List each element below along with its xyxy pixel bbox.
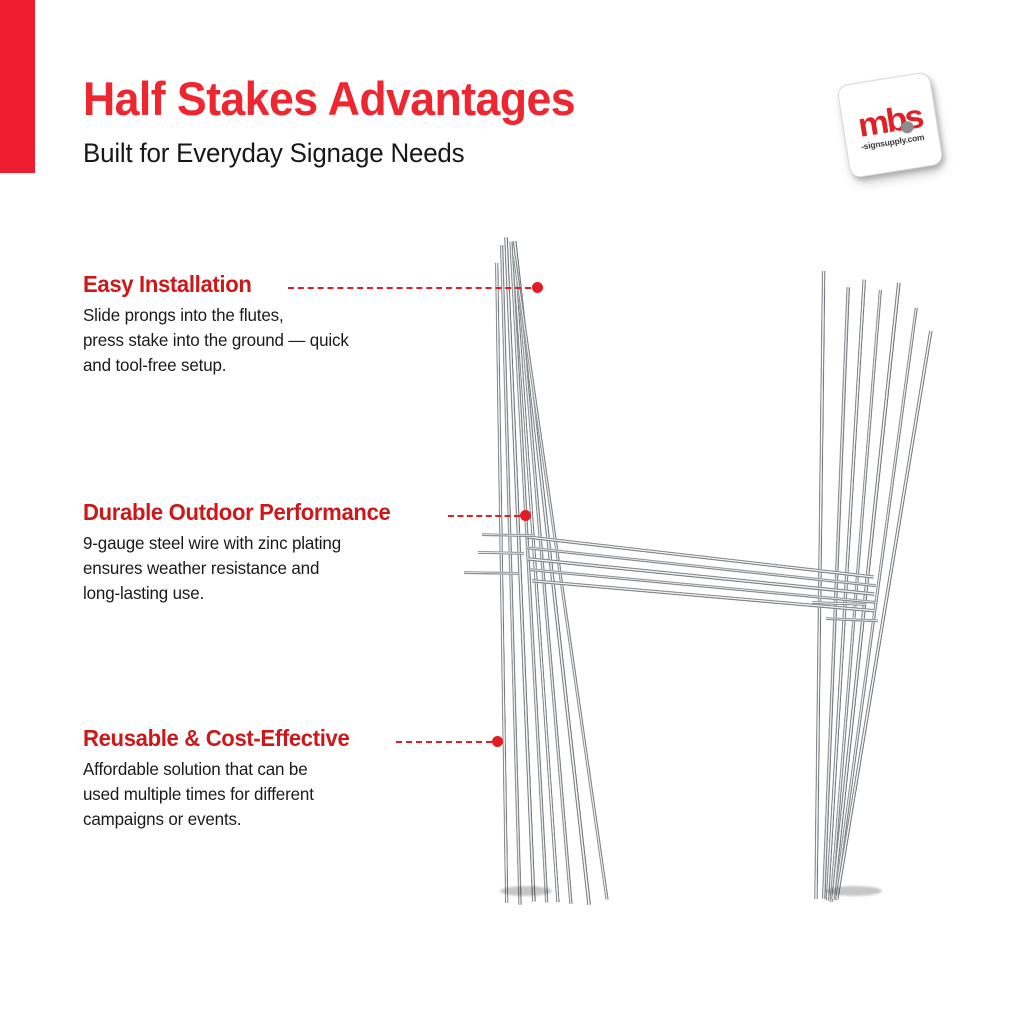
leader-line-3 bbox=[396, 741, 492, 743]
callout-title: Reusable & Cost-Effective bbox=[83, 726, 349, 750]
logo-card: mbs -signsupply.com bbox=[836, 71, 944, 179]
callout-body-line: long-lasting use. bbox=[83, 581, 394, 606]
page-subtitle: Built for Everyday Signage Needs bbox=[83, 138, 464, 169]
callout-body: 9-gauge steel wire with zinc plating ens… bbox=[83, 531, 394, 606]
product-image-wire-h-stake bbox=[430, 215, 950, 905]
callout-body-line: Affordable solution that can be bbox=[83, 757, 352, 782]
callout-body-line: campaigns or events. bbox=[83, 807, 352, 832]
page-title: Half Stakes Advantages bbox=[83, 74, 575, 123]
callout-durable-outdoor-performance: Durable Outdoor Performance 9-gauge stee… bbox=[83, 500, 403, 606]
callout-body-line: and tool-free setup. bbox=[83, 353, 349, 378]
leader-line-1 bbox=[288, 287, 531, 289]
callout-body-line: Slide prongs into the flutes, bbox=[83, 303, 349, 328]
callout-body: Slide prongs into the flutes, press stak… bbox=[83, 303, 349, 378]
leader-dot-1 bbox=[532, 282, 543, 293]
header-accent-bar bbox=[0, 0, 35, 173]
callout-body-line: ensures weather resistance and bbox=[83, 556, 394, 581]
logo-wordmark: mbs bbox=[855, 99, 923, 142]
brand-logo[interactable]: mbs -signsupply.com bbox=[841, 76, 945, 180]
leader-dot-2 bbox=[520, 510, 531, 521]
callout-body-line: press stake into the ground — quick bbox=[83, 328, 349, 353]
callout-body-line: used multiple times for different bbox=[83, 782, 352, 807]
callout-reusable-cost-effective: Reusable & Cost-Effective Affordable sol… bbox=[83, 726, 361, 832]
callout-title: Easy Installation bbox=[83, 272, 346, 296]
leader-line-2 bbox=[448, 515, 520, 517]
infographic-canvas: Half Stakes Advantages Built for Everyda… bbox=[0, 0, 1024, 1024]
callout-body-line: 9-gauge steel wire with zinc plating bbox=[83, 531, 394, 556]
callout-body: Affordable solution that can be used mul… bbox=[83, 757, 352, 832]
leader-dot-3 bbox=[492, 736, 503, 747]
callout-title: Durable Outdoor Performance bbox=[83, 500, 390, 524]
crossbar-wires bbox=[526, 535, 876, 613]
